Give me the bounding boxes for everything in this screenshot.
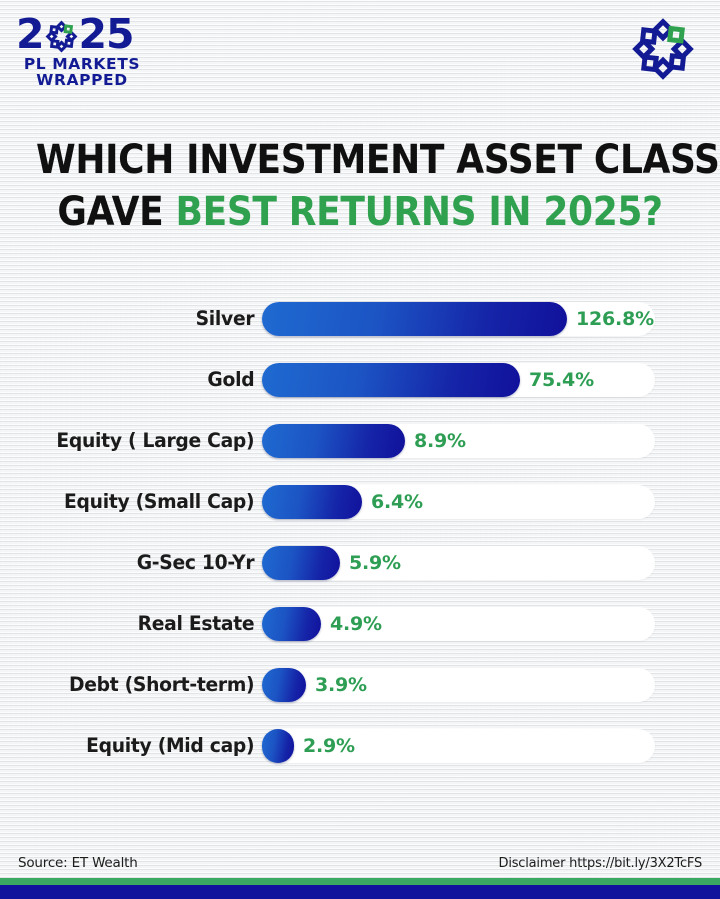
chart-row: Equity (Mid cap)2.9% xyxy=(0,715,720,776)
pinwheel-star-logo-icon xyxy=(45,19,78,52)
chart-row: Silver126.8% xyxy=(0,288,720,349)
title-line-2: GAVE BEST RETURNS IN 2025? xyxy=(36,186,684,238)
chart-row: G-Sec 10-Yr5.9% xyxy=(0,532,720,593)
brand-year: 2 25 xyxy=(16,14,146,55)
chart-bar-value: 3.9% xyxy=(315,668,367,702)
footer-stripe-navy xyxy=(0,885,720,899)
chart-track-wrap: 5.9% xyxy=(262,546,720,580)
brand-subtitle: PL MARKETS WRAPPED xyxy=(18,57,146,89)
footer-stripe-green xyxy=(0,878,720,885)
chart-row-label: Debt (Short-term) xyxy=(10,673,262,696)
footer: Source: ET Wealth Disclaimer https://bit… xyxy=(0,848,720,878)
chart-row: Debt (Short-term)3.9% xyxy=(0,654,720,715)
chart-bar xyxy=(262,424,405,458)
chart-row-label: Equity (Small Cap) xyxy=(10,490,262,513)
chart-track-wrap: 126.8% xyxy=(262,302,720,336)
source-label: Source: ET Wealth xyxy=(18,855,138,871)
chart-bar-value: 6.4% xyxy=(371,485,423,519)
brand-year-prefix: 2 xyxy=(16,14,44,55)
chart-row-label: Gold xyxy=(10,368,262,391)
title-line-2-plain: GAVE xyxy=(57,189,175,235)
title-line-1: WHICH INVESTMENT ASSET CLASS xyxy=(36,134,684,186)
disclaimer-label[interactable]: Disclaimer https://bit.ly/3X2TcFS xyxy=(499,856,702,871)
corner-pinwheel-star-logo-icon xyxy=(632,18,694,80)
chart-row-label: G-Sec 10-Yr xyxy=(10,551,262,574)
asset-returns-bar-chart: Silver126.8%Gold75.4%Equity ( Large Cap)… xyxy=(0,288,720,776)
chart-bar-value: 8.9% xyxy=(414,424,466,458)
chart-row-label: Equity ( Large Cap) xyxy=(10,429,262,452)
chart-bar xyxy=(262,485,362,519)
chart-bar xyxy=(262,546,340,580)
chart-row: Gold75.4% xyxy=(0,349,720,410)
chart-track-wrap: 4.9% xyxy=(262,607,720,641)
chart-row-label: Silver xyxy=(10,307,262,330)
chart-bar xyxy=(262,607,321,641)
chart-bar-value: 75.4% xyxy=(529,363,594,397)
brand-year-suffix: 25 xyxy=(79,14,134,55)
chart-track-wrap: 6.4% xyxy=(262,485,720,519)
infographic-sheet: 2 25 xyxy=(0,0,720,899)
chart-bar-value: 5.9% xyxy=(349,546,401,580)
chart-bar xyxy=(262,363,520,397)
brand-subtitle-line2: WRAPPED xyxy=(18,73,146,89)
chart-track-wrap: 75.4% xyxy=(262,363,720,397)
page-title: WHICH INVESTMENT ASSET CLASS GAVE BEST R… xyxy=(36,134,684,238)
chart-bar xyxy=(262,668,306,702)
chart-track-wrap: 2.9% xyxy=(262,729,720,763)
chart-bar-value: 126.8% xyxy=(576,302,654,336)
chart-bar-value: 4.9% xyxy=(330,607,382,641)
chart-row: Equity (Small Cap)6.4% xyxy=(0,471,720,532)
chart-row: Equity ( Large Cap)8.9% xyxy=(0,410,720,471)
chart-row: Real Estate4.9% xyxy=(0,593,720,654)
chart-bar xyxy=(262,302,567,336)
chart-track-wrap: 8.9% xyxy=(262,424,720,458)
title-line-2-highlight: BEST RETURNS IN 2025? xyxy=(176,189,663,235)
chart-bar xyxy=(262,729,294,763)
brand-lockup: 2 25 xyxy=(16,14,146,89)
chart-bar-value: 2.9% xyxy=(303,729,355,763)
header: 2 25 xyxy=(0,0,720,112)
chart-row-label: Real Estate xyxy=(10,612,262,635)
chart-row-label: Equity (Mid cap) xyxy=(10,734,262,757)
chart-track-wrap: 3.9% xyxy=(262,668,720,702)
